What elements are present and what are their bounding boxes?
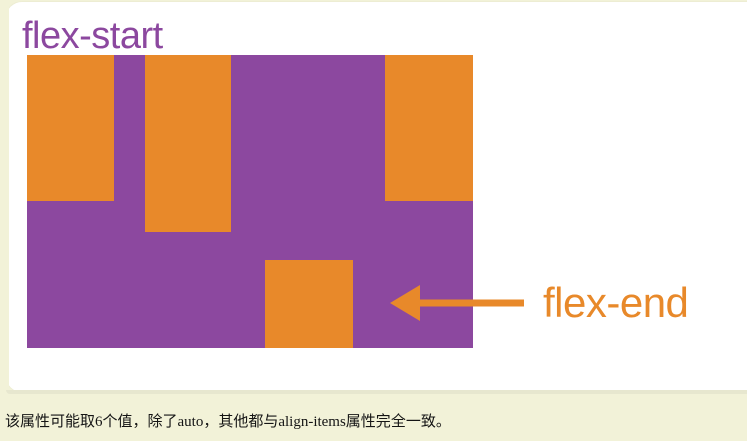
slide-stage: flex-start flex-end 该属性可能取6个值，除了auto，其他都… [0, 0, 747, 441]
left-arrow-icon [390, 280, 524, 326]
flex-item-1 [27, 55, 114, 201]
label-flex-end: flex-end [543, 278, 688, 328]
flex-item-3 [385, 55, 473, 201]
label-flex-start: flex-start [22, 14, 163, 58]
flex-item-4 [265, 260, 353, 348]
flex-item-2 [145, 55, 231, 232]
footer-note: 该属性可能取6个值，除了auto，其他都与align-items属性完全一致。 [5, 412, 451, 432]
left-gutter [0, 0, 9, 394]
